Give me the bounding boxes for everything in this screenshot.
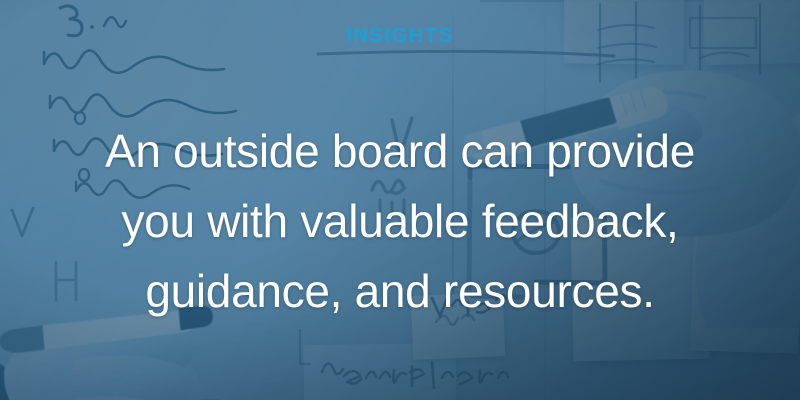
quote-headline: An outside board can provide you with va…	[0, 116, 800, 326]
eyebrow-label: INSIGHTS	[346, 26, 453, 46]
headline-line-2: you with valuable feedback,	[34, 186, 766, 256]
headline-line-1: An outside board can provide	[34, 116, 766, 186]
insights-quote-card: INSIGHTS An outside board can provide yo…	[0, 0, 800, 400]
card-content: INSIGHTS An outside board can provide yo…	[0, 0, 800, 400]
headline-line-3: guidance, and resources.	[34, 256, 766, 326]
